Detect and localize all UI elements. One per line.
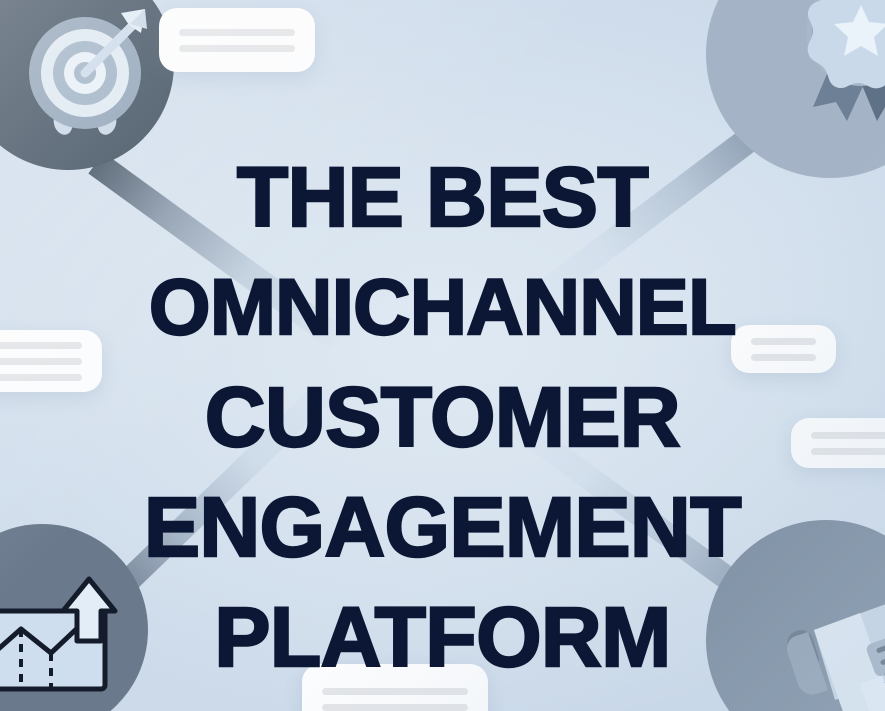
target-dartboard-icon [11, 0, 161, 145]
card-line [179, 29, 295, 36]
headline-line-1: THE BEST [0, 142, 885, 252]
page-title: THE BEST OMNICHANNEL CUSTOMER ENGAGEMENT… [0, 142, 885, 692]
message-card-top [159, 8, 315, 72]
award-ribbon-icon [789, 0, 885, 124]
headline-line-2: OMNICHANNEL [0, 252, 885, 362]
headline-line-4: ENGAGEMENT [0, 472, 885, 582]
poster-canvas: THE BEST OMNICHANNEL CUSTOMER ENGAGEMENT… [0, 0, 885, 711]
card-line [322, 704, 468, 711]
headline-line-3: CUSTOMER [0, 362, 885, 472]
headline-line-5: PLATFORM [0, 582, 885, 692]
card-line [179, 45, 295, 52]
